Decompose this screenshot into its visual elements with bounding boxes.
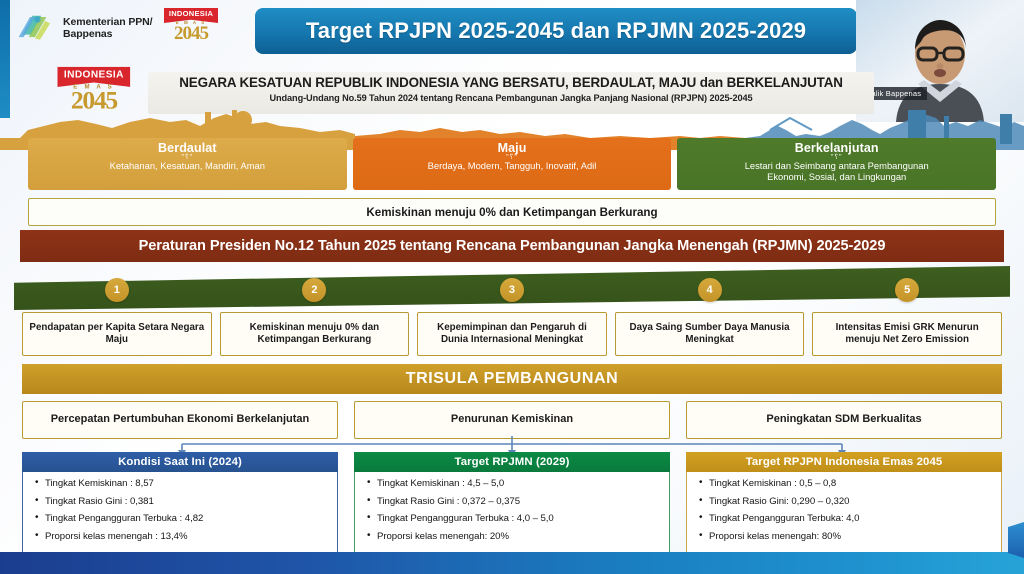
ministry-name-line2: Bappenas: [63, 29, 152, 41]
bottom-right-accent-tab: [1008, 522, 1024, 558]
trisula-heading: TRISULA PEMBANGUNAN: [22, 364, 1002, 394]
bottom-accent-bar: [0, 552, 1024, 574]
presentation-slide: Kementerian PPN/ Bappenas INDONESIA E M …: [0, 0, 1024, 574]
target-number-1: 1: [105, 278, 129, 302]
panel-kondisi-item-2: Tingkat Rasio Gini : 0,381: [45, 497, 329, 507]
target-number-4: 4: [698, 278, 722, 302]
trisula-item-2: Penurunan Kemiskinan: [354, 401, 670, 439]
panel-kondisi-title: Kondisi Saat Ini (2024): [22, 452, 338, 472]
panel-rpjmn-item-1: Tingkat Kemiskinan : 4,5 – 5,0: [377, 479, 661, 489]
panel-kondisi-item-3: Tingkat Pengangguran Terbuka : 4,82: [45, 514, 329, 524]
ministry-name: Kementerian PPN/ Bappenas: [63, 17, 152, 41]
webcam-video-tile[interactable]: Malik Bappenas: [856, 0, 1024, 122]
target-label-1: Pendapatan per Kapita Setara Negara Maju: [22, 312, 212, 356]
target-label-3: Kepemimpinan dan Pengaruh di Dunia Inter…: [417, 312, 607, 356]
panel-rpjpn-item-4: Proporsi kelas menengah: 80%: [709, 532, 993, 542]
pillar-maju-desc: Berdaya, Modern, Tangguh, Inovatif, Adil: [353, 160, 672, 171]
target-label-2: Kemiskinan menuju 0% dan Ketimpangan Ber…: [220, 312, 410, 356]
panel-rpjmn-item-3: Tingkat Pengangguran Terbuka : 4,0 – 5,0: [377, 514, 661, 524]
emas-year: 2045: [160, 23, 222, 45]
panel-rpjmn-item-4: Proporsi kelas menengah: 20%: [377, 532, 661, 542]
outcome-panels-row: Kondisi Saat Ini (2024) Tingkat Kemiskin…: [22, 452, 1002, 556]
pillar-berkelanjutan-desc-line2: Ekonomi, Sosial, dan Lingkungan: [677, 171, 996, 182]
pillar-berdaulat-separator: "⸮": [28, 155, 347, 160]
trisula-item-1: Percepatan Pertumbuhan Ekonomi Berkelanj…: [22, 401, 338, 439]
target-item-5: 5 Intensitas Emisi GRK Menurun menuju Ne…: [812, 312, 1002, 360]
pillar-berdaulat-desc: Ketahanan, Kesatuan, Mandiri, Aman: [28, 160, 347, 171]
panel-kondisi-item-4: Proporsi kelas menengah : 13,4%: [45, 532, 329, 542]
webcam-speaker-avatar: [856, 0, 1024, 122]
trisula-items-row: Percepatan Pertumbuhan Ekonomi Berkelanj…: [22, 401, 1002, 439]
panel-rpjpn-item-3: Tingkat Pengangguran Terbuka: 4,0: [709, 514, 993, 524]
panel-rpjpn-item-2: Tingkat Rasio Gini: 0,290 – 0,320: [709, 497, 993, 507]
left-accent-stripe: [0, 0, 10, 118]
targets-row: 1 Pendapatan per Kapita Setara Negara Ma…: [22, 312, 1002, 360]
pillar-maju-title: Maju: [353, 141, 672, 155]
target-number-3: 3: [500, 278, 524, 302]
target-label-5: Intensitas Emisi GRK Menurun menuju Net …: [812, 312, 1002, 356]
target-item-4: 4 Daya Saing Sumber Daya Manusia Meningk…: [615, 312, 805, 360]
panel-rpjpn-item-1: Tingkat Kemiskinan : 0,5 – 0,8: [709, 479, 993, 489]
ministry-logo-block: Kementerian PPN/ Bappenas: [16, 12, 152, 46]
nkri-statement-title: NEGARA KESATUAN REPUBLIK INDONESIA YANG …: [148, 75, 874, 90]
perpres-rpjmn-bar: Peraturan Presiden No.12 Tahun 2025 tent…: [20, 230, 1004, 262]
panel-rpjmn-item-2: Tingkat Rasio Gini : 0,372 – 0,375: [377, 497, 661, 507]
trisula-item-3: Peningkatan SDM Berkualitas: [686, 401, 1002, 439]
pillars-row: Berdaulat "⸮" Ketahanan, Kesatuan, Mandi…: [28, 138, 996, 190]
panel-rpjmn-title: Target RPJMN (2029): [354, 452, 670, 472]
pillar-berkelanjutan-title: Berkelanjutan: [677, 141, 996, 155]
panel-kondisi-item-1: Tingkat Kemiskinan : 8,57: [45, 479, 329, 489]
slide-title: Target RPJPN 2025-2045 dan RPJMN 2025-20…: [255, 8, 857, 54]
panel-rpjpn-title: Target RPJPN Indonesia Emas 2045: [686, 452, 1002, 472]
panel-rpjmn-body: Tingkat Kemiskinan : 4,5 – 5,0 Tingkat R…: [354, 472, 670, 556]
target-label-4: Daya Saing Sumber Daya Manusia Meningkat: [615, 312, 805, 356]
panel-kondisi-body: Tingkat Kemiskinan : 8,57 Tingkat Rasio …: [22, 472, 338, 556]
panel-kondisi-saat-ini: Kondisi Saat Ini (2024) Tingkat Kemiskin…: [22, 452, 338, 556]
bappenas-logo-icon: [16, 12, 54, 46]
pillar-maju: Maju "⸮" Berdaya, Modern, Tangguh, Inova…: [353, 138, 672, 190]
indonesia-emas-2045-logo: INDONESIA E M A S 2045: [160, 6, 222, 50]
pillar-berkelanjutan-separator: "⸮": [677, 155, 996, 160]
target-number-2: 2: [302, 278, 326, 302]
poverty-goal-bar: Kemiskinan menuju 0% dan Ketimpangan Ber…: [28, 198, 996, 226]
pillar-maju-separator: "⸮": [353, 155, 672, 160]
target-item-3: 3 Kepemimpinan dan Pengaruh di Dunia Int…: [417, 312, 607, 360]
pillar-berkelanjutan-desc-line1: Lestari dan Seimbang antara Pembangunan: [677, 160, 996, 171]
target-number-5: 5: [895, 278, 919, 302]
target-item-2: 2 Kemiskinan menuju 0% dan Ketimpangan B…: [220, 312, 410, 360]
panel-target-rpjpn-2045: Target RPJPN Indonesia Emas 2045 Tingkat…: [686, 452, 1002, 556]
panel-rpjpn-body: Tingkat Kemiskinan : 0,5 – 0,8 Tingkat R…: [686, 472, 1002, 556]
nkri-statement-subtitle: Undang-Undang No.59 Tahun 2024 tentang R…: [148, 93, 874, 103]
pillar-berdaulat-title: Berdaulat: [28, 141, 347, 155]
panel-target-rpjmn-2029: Target RPJMN (2029) Tingkat Kemiskinan :…: [354, 452, 670, 556]
pillar-berkelanjutan: Berkelanjutan "⸮" Lestari dan Seimbang a…: [677, 138, 996, 190]
pillar-berdaulat: Berdaulat "⸮" Ketahanan, Kesatuan, Mandi…: [28, 138, 347, 190]
target-item-1: 1 Pendapatan per Kapita Setara Negara Ma…: [22, 312, 212, 360]
